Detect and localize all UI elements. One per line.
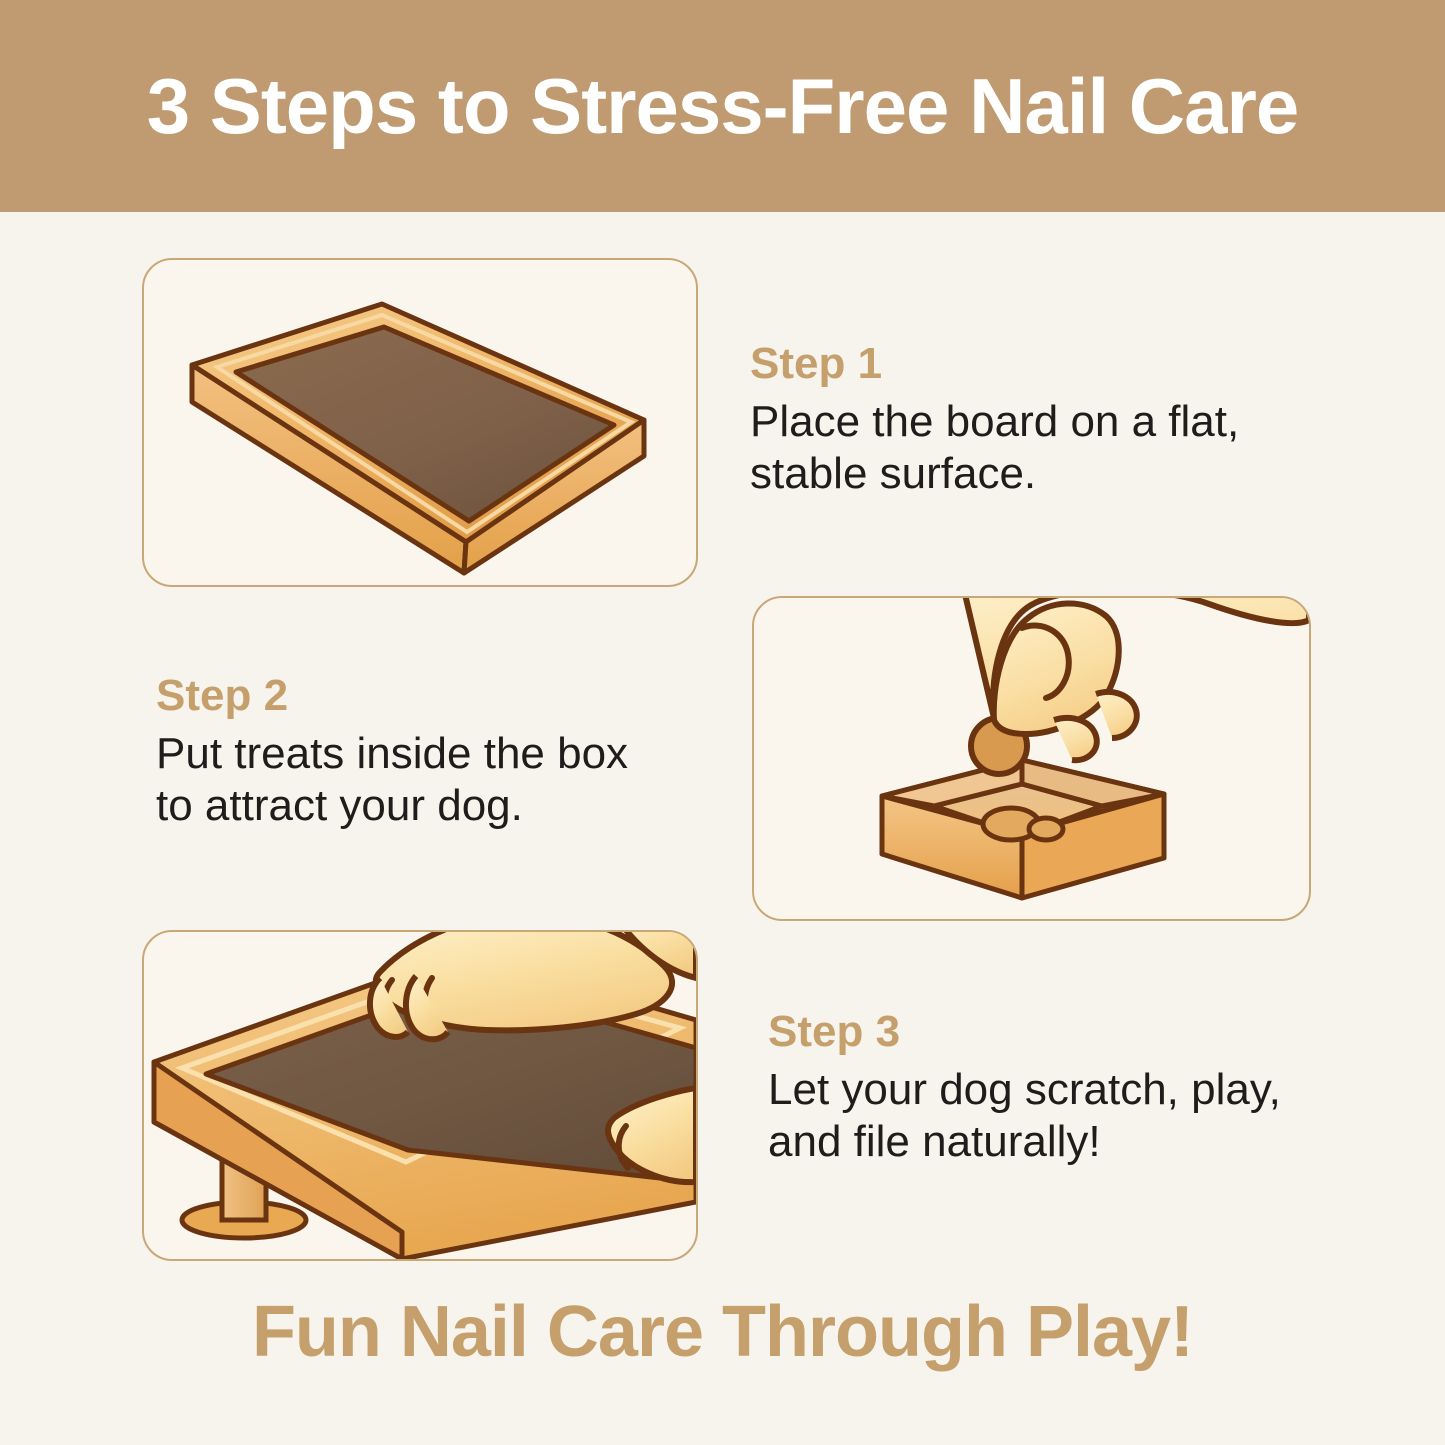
- step-3-body-line-2: and file naturally!: [768, 1116, 1338, 1169]
- page-title: 3 Steps to Stress-Free Nail Care: [147, 67, 1298, 145]
- step-3-text-block: Step 3 Let your dog scratch, play, and f…: [768, 1008, 1338, 1169]
- step-2-body: Put treats inside the box to attract you…: [156, 728, 716, 834]
- step-2-illustration-card: [752, 596, 1311, 921]
- header-band: 3 Steps to Stress-Free Nail Care: [0, 0, 1445, 212]
- step-1-label: Step 1: [750, 340, 1310, 388]
- step-2-body-line-1: Put treats inside the box: [156, 728, 716, 781]
- footer-tagline: Fun Nail Care Through Play!: [0, 1296, 1445, 1368]
- step-3-illustration-card: [142, 930, 698, 1261]
- dog-paw-scratching-icon: [144, 932, 696, 1259]
- step-1-body-line-1: Place the board on a flat,: [750, 396, 1310, 449]
- infographic-page: 3 Steps to Stress-Free Nail Care: [0, 0, 1445, 1445]
- step-1-body-line-2: stable surface.: [750, 448, 1310, 501]
- step-3-body: Let your dog scratch, play, and file nat…: [768, 1064, 1338, 1170]
- step-1-body: Place the board on a flat, stable surfac…: [750, 396, 1310, 502]
- step-3-body-line-1: Let your dog scratch, play,: [768, 1064, 1338, 1117]
- step-3-label: Step 3: [768, 1008, 1338, 1056]
- step-1-illustration-card: [142, 258, 698, 587]
- scratch-board-icon: [144, 260, 696, 585]
- step-2-body-line-2: to attract your dog.: [156, 780, 716, 833]
- step-2-text-block: Step 2 Put treats inside the box to attr…: [156, 672, 716, 833]
- step-1-text-block: Step 1 Place the board on a flat, stable…: [750, 340, 1310, 501]
- step-2-label: Step 2: [156, 672, 716, 720]
- hand-dropping-treat-icon: [754, 598, 1309, 919]
